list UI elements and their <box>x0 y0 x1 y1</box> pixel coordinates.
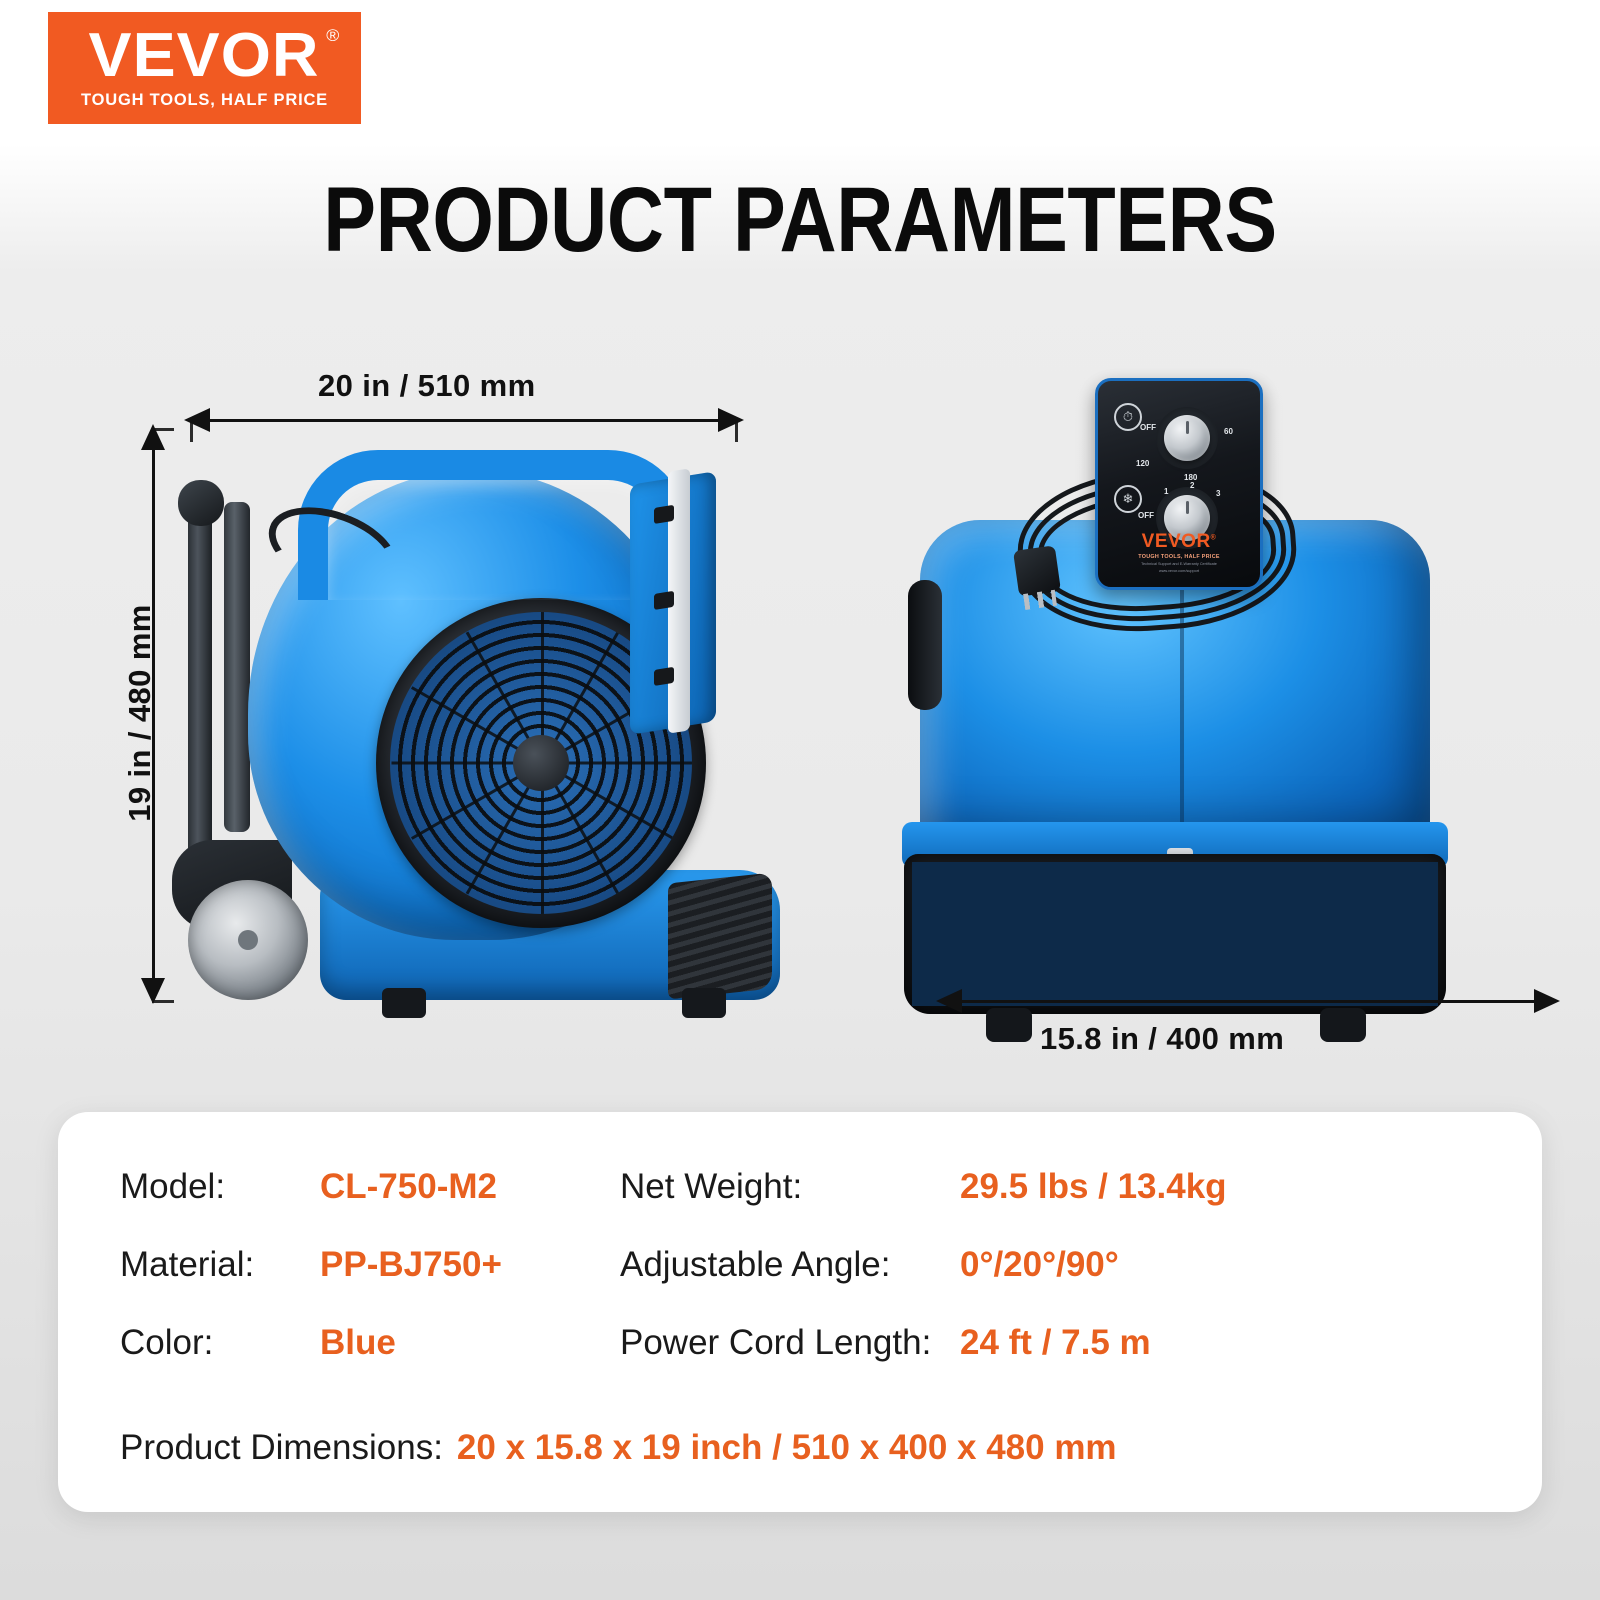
height-arrowhead-bottom-icon <box>141 978 165 1004</box>
width-arrowhead-right-icon <box>718 408 744 432</box>
spec-value-color: Blue <box>320 1304 620 1382</box>
product-image-side-view <box>170 440 810 1020</box>
spec-label-material: Material: <box>120 1226 320 1304</box>
width-arrow-line <box>208 419 724 422</box>
pole-grip <box>178 480 224 526</box>
panel-support-line-1: Technical Support and E-Warranty Certifi… <box>1098 562 1260 568</box>
height-arrowhead-top-icon <box>141 424 165 450</box>
logo-tagline: TOUGH TOOLS, HALF PRICE <box>81 91 328 110</box>
spec-value-net-weight: 29.5 lbs / 13.4kg <box>960 1148 1502 1226</box>
power-plug <box>1013 545 1061 596</box>
specifications-grid: Model: CL-750-M2 Net Weight: 29.5 lbs / … <box>120 1148 1502 1382</box>
width-arrowhead-left-icon <box>184 408 210 432</box>
grille-hub <box>513 735 569 791</box>
control-panel-chrome-strip <box>668 468 690 733</box>
height-arrow-line <box>152 448 155 988</box>
spec-row-product-dimensions: Product Dimensions: 20 x 15.8 x 19 inch … <box>120 1428 1117 1468</box>
specifications-card: Model: CL-750-M2 Net Weight: 29.5 lbs / … <box>58 1112 1542 1512</box>
panel-brand-text: VEVOR <box>1142 531 1211 552</box>
foot-front <box>382 988 426 1018</box>
panel-brand-name: VEVOR® <box>1098 531 1260 553</box>
registered-mark-icon: ® <box>327 28 341 44</box>
spec-label-power-cord-length: Power Cord Length: <box>620 1304 960 1382</box>
spec-label-adjustable-angle: Adjustable Angle: <box>620 1226 960 1304</box>
side-handle <box>908 580 942 710</box>
spec-label-net-weight: Net Weight: <box>620 1148 960 1226</box>
timer-mark-120: 120 <box>1136 459 1149 468</box>
fan-mark-2: 2 <box>1190 481 1194 490</box>
leg-right <box>1320 1008 1366 1042</box>
depth-arrowhead-left-icon <box>936 989 962 1013</box>
rear-intake-grille <box>904 854 1446 1014</box>
depth-arrow-line <box>960 1000 1540 1003</box>
logo-wordmark-text: VEVOR <box>89 21 320 90</box>
timer-mark-off: OFF <box>1140 423 1156 432</box>
timer-mark-60: 60 <box>1224 427 1233 436</box>
spec-label-model: Model: <box>120 1148 320 1226</box>
spec-label-product-dimensions: Product Dimensions: <box>120 1428 443 1468</box>
page-title: PRODUCT PARAMETERS <box>112 168 1488 273</box>
spec-value-adjustable-angle: 0°/20°/90° <box>960 1226 1502 1304</box>
telescoping-pole <box>188 498 212 898</box>
panel-support-line-2: www.vevor.com/support <box>1098 569 1260 575</box>
logo-wordmark: VEVOR ® <box>89 26 320 86</box>
timer-knob[interactable] <box>1164 415 1210 461</box>
spec-value-product-dimensions: 20 x 15.8 x 19 inch / 510 x 400 x 480 mm <box>457 1428 1117 1468</box>
spec-label-color: Color: <box>120 1304 320 1382</box>
page-background: VEVOR ® TOUGH TOOLS, HALF PRICE PRODUCT … <box>0 0 1600 1600</box>
fan-mark-3: 3 <box>1216 489 1220 498</box>
spec-value-material: PP-BJ750+ <box>320 1226 620 1304</box>
caster-wheel <box>188 880 308 1000</box>
control-panel: ⏱ OFF 60 120 180 ❄ OFF 1 2 3 VEVOR® TOUG… <box>1095 378 1263 590</box>
fan-blade-icon: ❄ <box>1114 485 1142 513</box>
spec-value-power-cord-length: 24 ft / 7.5 m <box>960 1304 1502 1382</box>
dimension-label-depth: 15.8 in / 400 mm <box>1040 1021 1284 1057</box>
panel-brand-block: VEVOR® TOUGH TOOLS, HALF PRICE Technical… <box>1098 531 1260 575</box>
leg-left <box>986 1008 1032 1042</box>
panel-brand-tagline: TOUGH TOOLS, HALF PRICE <box>1098 554 1260 560</box>
fan-mark-1: 1 <box>1164 487 1168 496</box>
foot-rear <box>682 988 726 1018</box>
side-vent <box>668 873 772 1000</box>
telescoping-pole-secondary <box>224 502 250 832</box>
fan-mark-off: OFF <box>1138 511 1154 520</box>
dimension-label-width: 20 in / 510 mm <box>318 368 536 404</box>
depth-arrowhead-right-icon <box>1534 989 1560 1013</box>
spec-value-model: CL-750-M2 <box>320 1148 620 1226</box>
vevor-logo: VEVOR ® TOUGH TOOLS, HALF PRICE <box>48 12 361 124</box>
timer-clock-icon: ⏱ <box>1114 403 1142 431</box>
panel-registered-icon: ® <box>1211 534 1217 541</box>
